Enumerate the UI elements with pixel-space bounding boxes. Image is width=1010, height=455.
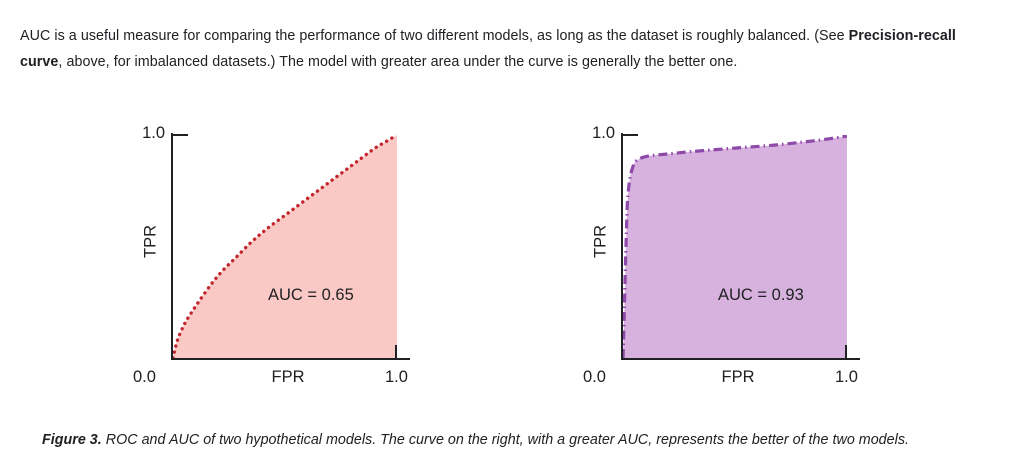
x-axis-label-left: FPR (253, 368, 323, 387)
roc-fill-right (623, 136, 847, 358)
y-tick-label-1-right: 1.0 (583, 124, 615, 143)
x-tick-label-1-right: 1.0 (835, 368, 875, 387)
x-axis-line-right (621, 358, 860, 360)
plot-area-left (173, 135, 397, 358)
x-tick-label-0-right: 0.0 (583, 368, 623, 387)
figure-caption: Figure 3. ROC and AUC of two hypothetica… (42, 429, 992, 451)
x-axis-line-left (171, 358, 410, 360)
x-axis-tick-right-right (845, 345, 847, 360)
y-axis-line-right (621, 133, 623, 360)
figure-charts-row: 1.0 0.0 1.0 FPR TPR AUC = 0.65 1.0 0.0 1… (0, 100, 1010, 400)
y-axis-tick-top-left (173, 134, 188, 136)
figure-caption-text: ROC and AUC of two hypothetical models. … (102, 432, 909, 448)
x-axis-tick-right-left (395, 345, 397, 360)
y-tick-label-1-left: 1.0 (133, 124, 165, 143)
intro-text-part1: AUC is a useful measure for comparing th… (20, 28, 849, 44)
intro-paragraph: AUC is a useful measure for comparing th… (20, 23, 980, 75)
x-tick-label-0-left: 0.0 (133, 368, 173, 387)
x-tick-label-1-left: 1.0 (385, 368, 425, 387)
intro-text-part2: , above, for imbalanced datasets.) The m… (58, 54, 737, 70)
roc-chart-left: 1.0 0.0 1.0 FPR TPR (0, 100, 420, 400)
y-axis-label-right: TPR (592, 209, 611, 275)
y-axis-tick-top-right (623, 134, 638, 136)
y-axis-label-left: TPR (142, 209, 161, 275)
roc-curve-right-svg (623, 135, 847, 358)
auc-annotation-left: AUC = 0.65 (268, 286, 354, 305)
roc-curve-left-svg (173, 135, 397, 358)
auc-annotation-right: AUC = 0.93 (718, 286, 804, 305)
plot-area-right (623, 135, 847, 358)
x-axis-label-right: FPR (703, 368, 773, 387)
roc-fill-left (173, 135, 397, 358)
figure-caption-number: Figure 3. (42, 432, 102, 448)
roc-chart-right: 1.0 0.0 1.0 FPR TPR (450, 100, 870, 400)
y-axis-line-left (171, 133, 173, 360)
